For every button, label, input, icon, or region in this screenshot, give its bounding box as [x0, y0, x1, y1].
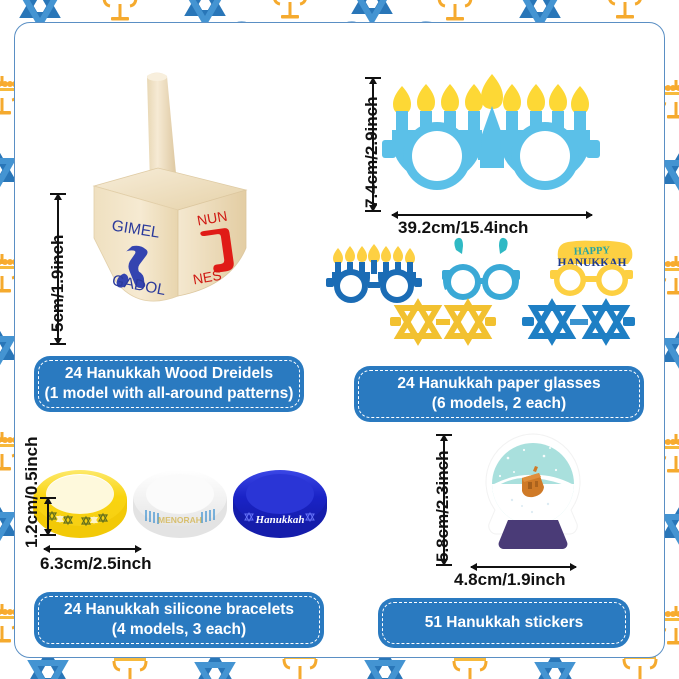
badge-stickers: 51 Hanukkah stickers: [378, 598, 630, 648]
light-blue-menorah-glasses-image: [382, 78, 597, 208]
sticker-width-label: 4.8cm/1.9inch: [454, 570, 566, 590]
candle-flames: [393, 74, 589, 114]
badge-stickers-line1: 51 Hanukkah stickers: [425, 614, 584, 631]
badge-dreidels-line1: 24 Hanukkah Wood Dreidels: [65, 365, 273, 382]
happy-text: HAPPY: [574, 245, 611, 257]
happy-hanukkah-glasses-image: HAPPY HANUKKAH: [550, 241, 633, 296]
snow-globe-sticker-image: [478, 432, 588, 564]
hanukkah-bracelet-text: Hanukkah: [255, 514, 305, 526]
dreidel-height-label: 5cm/1.9inch: [48, 235, 68, 332]
bracelet-dim-tick-bottom: [40, 534, 56, 536]
dreidel-dim-tick-bottom: [50, 343, 66, 345]
glasses-width-label: 39.2cm/15.4inch: [398, 218, 528, 238]
bracelet-width-dimension-line: [44, 548, 141, 550]
badge-dreidels: 24 Hanukkah Wood Dreidels (1 model with …: [34, 356, 304, 412]
sticker-height-label: 5.8cm/2.3inch: [433, 450, 453, 562]
glasses-width-dimension-line: [392, 214, 592, 216]
badge-bracelets-line1: 24 Hanukkah silicone bracelets: [64, 601, 294, 618]
dreidel-dim-tick-top: [50, 193, 66, 195]
sticker-dim-tick-bottom: [436, 564, 452, 566]
glasses-height-label: 7.4cm/2.9inch: [362, 96, 382, 208]
globe-base: [499, 520, 568, 549]
badge-glasses-line1: 24 Hanukkah paper glasses: [397, 375, 600, 392]
blue-star-glasses-image: [522, 304, 635, 340]
wood-dreidel-image: GIMEL GADOL NUN NES: [80, 68, 270, 318]
sticker-width-dimension-line: [471, 566, 576, 568]
teal-round-glasses-image: [442, 238, 520, 300]
badge-glasses-line2: (6 models, 2 each): [432, 395, 566, 412]
white-menorah-bracelet: MENORAH: [133, 470, 227, 538]
glasses-dim-tick-top: [365, 77, 381, 79]
bracelet-dim-tick-top: [40, 497, 56, 499]
yellow-star-glasses-image: [390, 304, 496, 340]
bracelet-height-label: 1.2cm/0.5inch: [22, 436, 42, 548]
bracelet-height-dimension-line: [47, 498, 49, 535]
badge-glasses: 24 Hanukkah paper glasses (6 models, 2 e…: [354, 366, 644, 422]
product-size-infographic: PRODUCT SIZE: [0, 0, 679, 679]
menorah-bracelet-text: MENORAH: [158, 515, 202, 525]
badge-bracelets-line2: (4 models, 3 each): [112, 621, 246, 638]
silicone-bracelets-image: MENORAH Hanukkah: [30, 448, 335, 558]
bracelet-width-label: 6.3cm/2.5inch: [40, 554, 152, 574]
dark-blue-menorah-glasses-image: [326, 244, 422, 303]
glasses-dim-tick-bottom: [365, 210, 381, 212]
blue-hanukkah-bracelet: Hanukkah: [233, 470, 327, 538]
sticker-dim-tick-top: [436, 434, 452, 436]
badge-dreidels-line2: (1 model with all-around patterns): [45, 385, 294, 402]
glasses-models-grid: HAPPY HANUKKAH: [326, 242, 656, 354]
badge-bracelets: 24 Hanukkah silicone bracelets (4 models…: [34, 592, 324, 648]
